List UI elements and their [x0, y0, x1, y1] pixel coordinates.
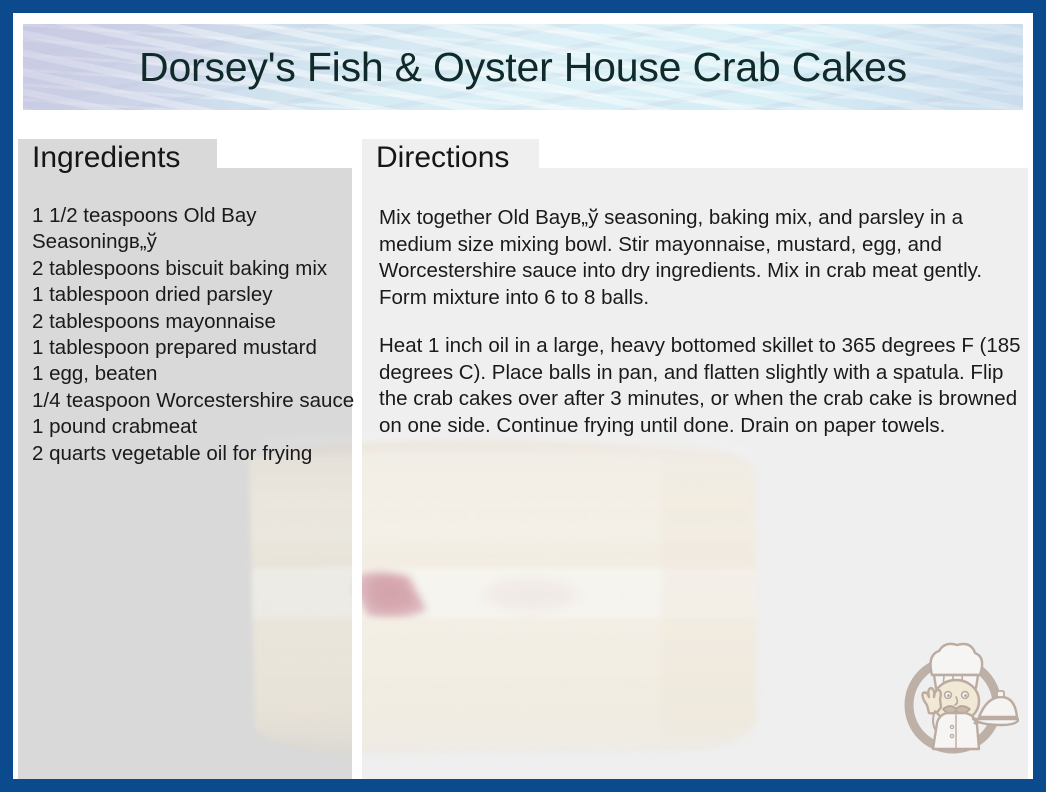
list-item: 1 egg, beaten	[32, 361, 362, 387]
directions-body: Mix together Old Bayв„ў seasoning, bakin…	[379, 205, 1024, 461]
page-title: Dorsey's Fish & Oyster House Crab Cakes	[23, 24, 1023, 110]
list-item: 1 pound crabmeat	[32, 414, 362, 440]
recipe-card: Dorsey's Fish & Oyster House Crab Cakes	[0, 0, 1046, 792]
directions-heading: Directions	[362, 139, 539, 179]
ingredients-list: 1 1/2 teaspoons Old Bay Seasoningв„ў 2 t…	[32, 203, 362, 467]
list-item: 1/4 teaspoon Worcestershire sauce	[32, 388, 362, 414]
ingredients-heading: Ingredients	[18, 139, 217, 179]
list-item: 2 tablespoons mayonnaise	[32, 309, 362, 335]
list-item: 2 tablespoons biscuit baking mix	[32, 256, 362, 282]
directions-paragraph: Mix together Old Bayв„ў seasoning, bakin…	[379, 205, 1024, 311]
card-page: Dorsey's Fish & Oyster House Crab Cakes	[13, 13, 1033, 779]
list-item: 1 tablespoon dried parsley	[32, 282, 362, 308]
list-item: 1 tablespoon prepared mustard	[32, 335, 362, 361]
list-item: 2 quarts vegetable oil for frying	[32, 441, 362, 467]
title-banner: Dorsey's Fish & Oyster House Crab Cakes	[23, 24, 1023, 110]
list-item: 1 1/2 teaspoons Old Bay Seasoningв„ў	[32, 203, 362, 256]
directions-paragraph: Heat 1 inch oil in a large, heavy bottom…	[379, 333, 1024, 439]
